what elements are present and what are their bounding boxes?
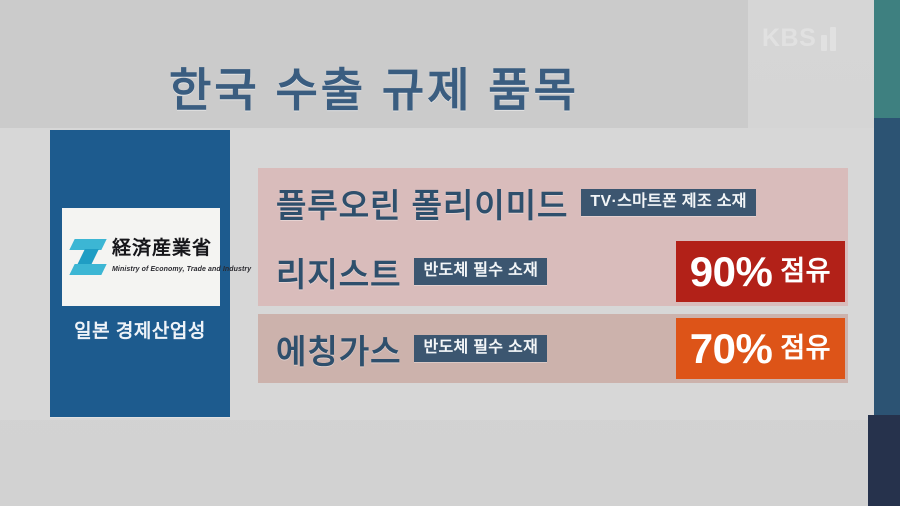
item-tag: 반도체 필수 소재: [414, 258, 547, 285]
item-group-bottom: 에칭가스 반도체 필수 소재 70% 점유: [258, 314, 848, 383]
edge-strip-navy: [868, 415, 900, 506]
share-badge: 70% 점유: [676, 318, 845, 379]
item-group-top: 플루오린 폴리이미드 TV·스마트폰 제조 소재 리지스트 반도체 필수 소재 …: [258, 168, 848, 306]
source-panel: 経済産業省 Ministry of Economy, Trade and Ind…: [50, 130, 230, 417]
kbs-watermark-label: KBS: [762, 26, 816, 51]
meti-logo-icon: [70, 237, 106, 277]
source-caption: 일본 경제산업성: [50, 316, 230, 343]
item-name: 리지스트: [276, 248, 401, 296]
kbs-watermark: KBS: [762, 26, 836, 51]
kbs-channel-icon: [821, 27, 836, 51]
item-row: 리지스트 반도체 필수 소재 90% 점유: [258, 237, 848, 306]
share-percent: 70%: [690, 328, 773, 370]
item-tag: TV·스마트폰 제조 소재: [581, 189, 755, 216]
share-label: 점유: [780, 258, 831, 285]
share-label: 점유: [780, 335, 831, 362]
share-badge: 90% 점유: [676, 241, 845, 302]
item-tag: 반도체 필수 소재: [414, 335, 547, 362]
item-row: 플루오린 폴리이미드 TV·스마트폰 제조 소재: [258, 168, 848, 237]
meti-logo-text: 経済産業省 Ministry of Economy, Trade and Ind…: [112, 239, 251, 276]
meti-logo-card: 経済産業省 Ministry of Economy, Trade and Ind…: [62, 208, 220, 306]
edge-strip-teal: [874, 0, 900, 118]
item-row: 에칭가스 반도체 필수 소재 70% 점유: [258, 314, 848, 383]
news-graphic-screen: KBS 한국 수출 규제 품목 経済産業省 Ministry of Econom…: [0, 0, 900, 506]
meti-name-en: Ministry of Economy, Trade and Industry: [112, 266, 251, 273]
edge-strip-blue: [874, 118, 900, 415]
page-title: 한국 수출 규제 품목: [0, 54, 748, 120]
item-name: 에칭가스: [276, 325, 401, 373]
share-percent: 90%: [690, 251, 773, 293]
item-name: 플루오린 폴리이미드: [276, 179, 568, 227]
meti-name-jp: 経済産業省: [112, 238, 212, 259]
